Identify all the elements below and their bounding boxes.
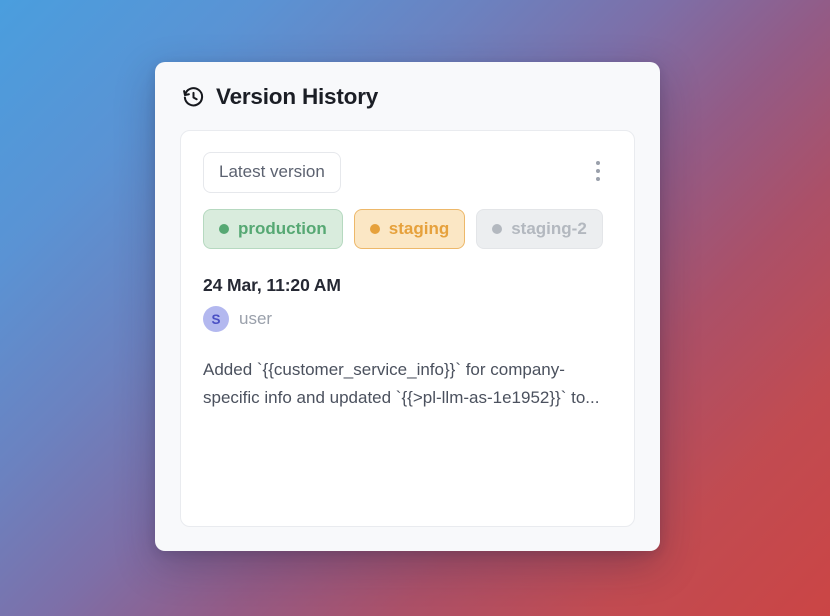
entry-description: Added `{{customer_service_info}}` for co…	[203, 356, 612, 412]
environment-badge-row: production staging staging-2	[203, 209, 612, 250]
history-clock-icon	[182, 86, 205, 109]
kebab-dot	[596, 169, 600, 173]
entry-top-row: Latest version	[203, 152, 612, 193]
kebab-dot	[596, 177, 600, 181]
status-dot-icon	[370, 224, 380, 234]
avatar: S	[203, 306, 229, 332]
page-title: Version History	[216, 86, 378, 109]
entry-meta: 24 Mar, 11:20 AM S user	[203, 275, 612, 332]
status-badge-staging-2[interactable]: staging-2	[476, 209, 603, 250]
status-badge-staging[interactable]: staging	[354, 209, 465, 250]
status-badge-label: staging-2	[511, 220, 587, 239]
status-dot-icon	[492, 224, 502, 234]
entry-author: S user	[203, 306, 612, 332]
entry-timestamp: 24 Mar, 11:20 AM	[203, 275, 612, 296]
kebab-menu-icon[interactable]	[586, 158, 610, 184]
version-entry-panel: Latest version production staging stagin…	[180, 130, 635, 527]
card-header: Version History	[180, 86, 635, 109]
status-badge-production[interactable]: production	[203, 209, 343, 250]
author-name: user	[239, 309, 272, 329]
kebab-dot	[596, 161, 600, 165]
version-chip[interactable]: Latest version	[203, 152, 341, 193]
status-badge-label: staging	[389, 220, 449, 239]
version-history-card: Version History Latest version productio…	[155, 62, 660, 551]
status-badge-label: production	[238, 220, 327, 239]
status-dot-icon	[219, 224, 229, 234]
